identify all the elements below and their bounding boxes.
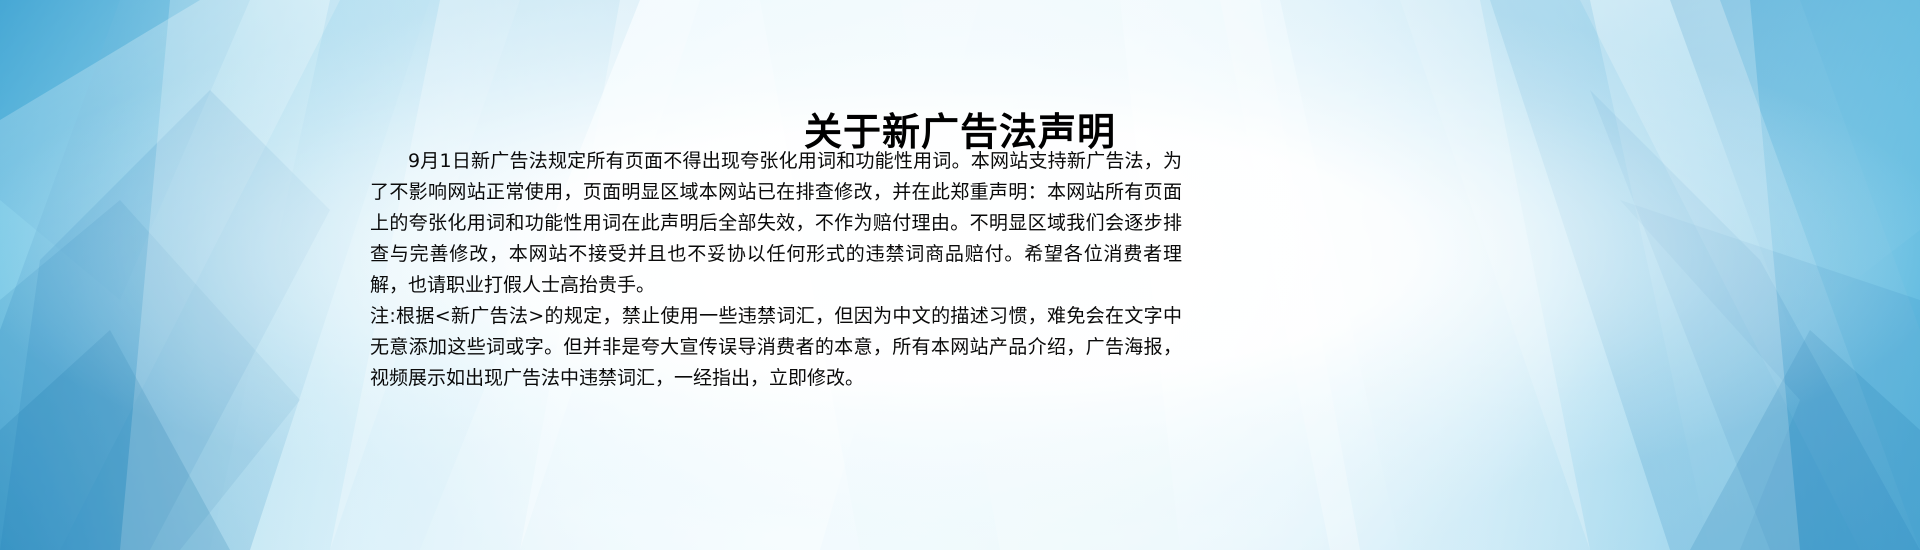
advertising-law-statement-banner: 关于新广告法声明 9月1日新广告法规定所有页面不得出现夸张化用词和功能性用词。本… (0, 0, 1920, 550)
statement-paragraph-1: 9月1日新广告法规定所有页面不得出现夸张化用词和功能性用词。本网站支持新广告法，… (370, 146, 1182, 301)
polygon-shapes-right (1220, 0, 1920, 550)
statement-body: 9月1日新广告法规定所有页面不得出现夸张化用词和功能性用词。本网站支持新广告法，… (370, 146, 1182, 394)
statement-paragraph-2: 注:根据<新广告法>的规定，禁止使用一些违禁词汇，但因为中文的描述习惯，难免会在… (370, 301, 1182, 394)
